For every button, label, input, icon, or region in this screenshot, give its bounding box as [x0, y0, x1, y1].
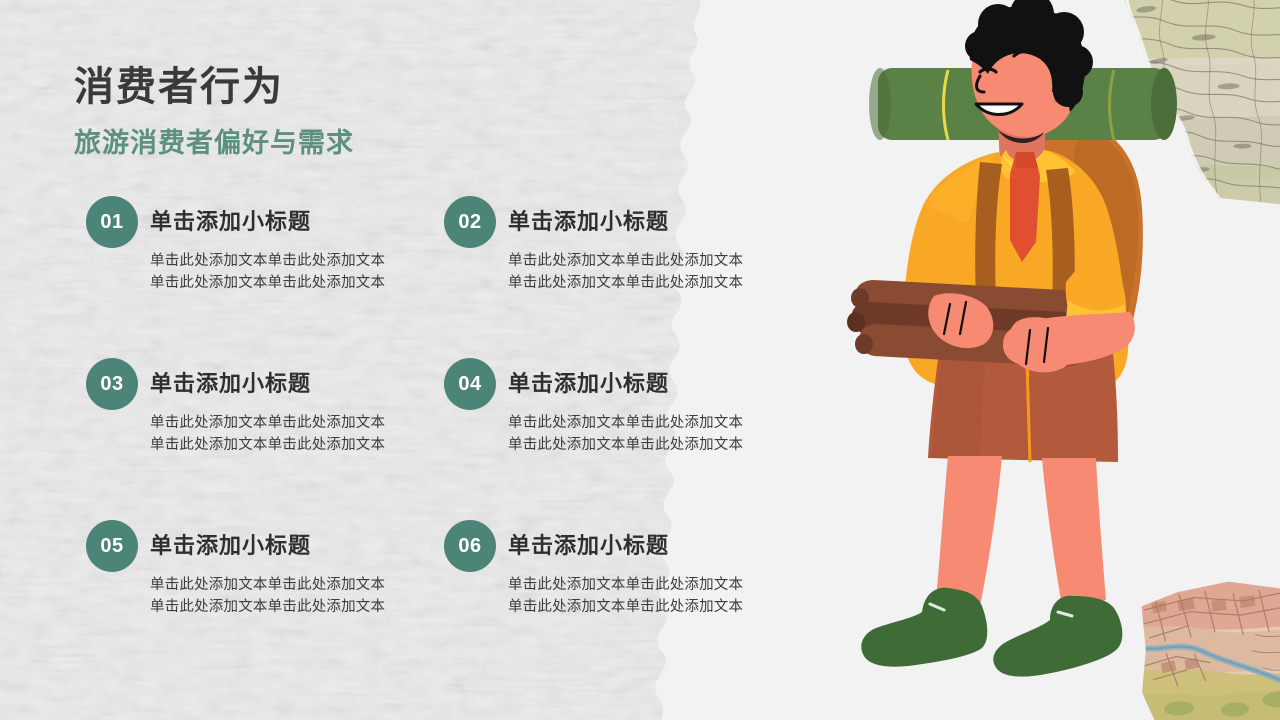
- item-number-badge-03: 03: [86, 358, 138, 410]
- item-heading-02: 单击添加小标题: [508, 204, 669, 236]
- item-heading-01: 单击添加小标题: [150, 204, 311, 236]
- item-body-03: 单击此处添加文本单击此处添加文本 单击此处添加文本单击此处添加文本: [150, 412, 416, 457]
- item-body-02: 单击此处添加文本单击此处添加文本 单击此处添加文本单击此处添加文本: [508, 250, 774, 295]
- item-heading-05: 单击添加小标题: [150, 528, 311, 560]
- item-body-line-1: 单击此处添加文本单击此处添加文本: [508, 574, 774, 596]
- hiker-legs: [936, 456, 1106, 606]
- content-item-grid: 01 单击添加小标题 单击此处添加文本单击此处添加文本 单击此处添加文本单击此处…: [86, 196, 786, 616]
- item-body-line-2: 单击此处添加文本单击此处添加文本: [150, 272, 416, 294]
- slide-canvas: 消费者行为 旅游消费者偏好与需求 01 单击添加小标题 单击此处添加文本单击此处…: [0, 0, 1280, 720]
- item-heading-04: 单击添加小标题: [508, 366, 669, 398]
- item-body-06: 单击此处添加文本单击此处添加文本 单击此处添加文本单击此处添加文本: [508, 574, 774, 619]
- item-body-line-2: 单击此处添加文本单击此处添加文本: [150, 596, 416, 618]
- page-subtitle: 旅游消费者偏好与需求: [74, 121, 354, 160]
- page-title: 消费者行为: [74, 54, 284, 112]
- item-number-badge-04: 04: [444, 358, 496, 410]
- backpacker-hiker-illustration: [830, 0, 1230, 690]
- item-body-line-2: 单击此处添加文本单击此处添加文本: [508, 596, 774, 618]
- item-number-badge-02: 02: [444, 196, 496, 248]
- item-number-badge-05: 05: [86, 520, 138, 572]
- item-heading-03: 单击添加小标题: [150, 366, 311, 398]
- item-body-line-2: 单击此处添加文本单击此处添加文本: [508, 434, 774, 456]
- item-body-01: 单击此处添加文本单击此处添加文本 单击此处添加文本单击此处添加文本: [150, 250, 416, 295]
- item-body-line-1: 单击此处添加文本单击此处添加文本: [508, 250, 774, 272]
- item-body-05: 单击此处添加文本单击此处添加文本 单击此处添加文本单击此处添加文本: [150, 574, 416, 619]
- item-body-line-1: 单击此处添加文本单击此处添加文本: [150, 412, 416, 434]
- hiker-shoes: [861, 588, 1122, 677]
- item-body-line-1: 单击此处添加文本单击此处添加文本: [150, 250, 416, 272]
- item-body-line-2: 单击此处添加文本单击此处添加文本: [150, 434, 416, 456]
- item-number-badge-06: 06: [444, 520, 496, 572]
- item-body-line-1: 单击此处添加文本单击此处添加文本: [150, 574, 416, 596]
- item-body-04: 单击此处添加文本单击此处添加文本 单击此处添加文本单击此处添加文本: [508, 412, 774, 457]
- item-body-line-1: 单击此处添加文本单击此处添加文本: [508, 412, 774, 434]
- item-body-line-2: 单击此处添加文本单击此处添加文本: [508, 272, 774, 294]
- item-number-badge-01: 01: [86, 196, 138, 248]
- item-heading-06: 单击添加小标题: [508, 528, 669, 560]
